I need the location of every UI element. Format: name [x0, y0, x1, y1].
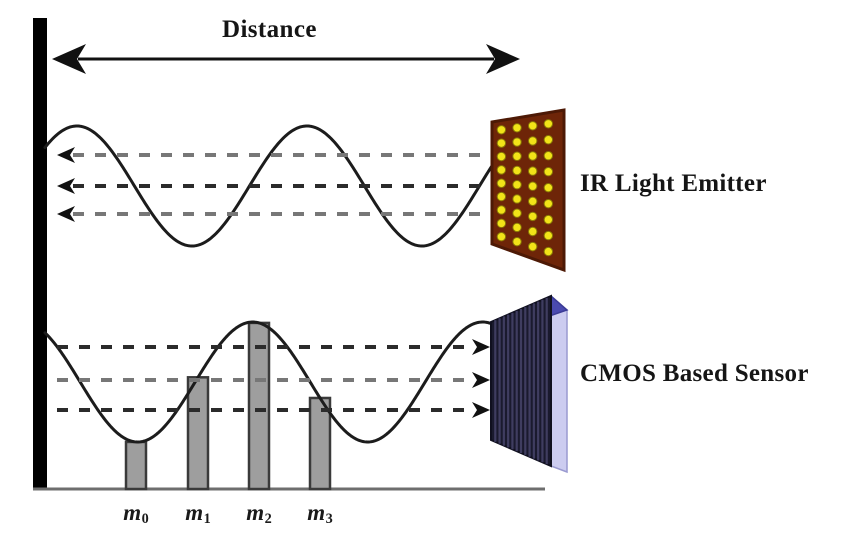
emitted-ray-2 [57, 206, 490, 222]
ir-led-dot [528, 227, 536, 235]
ir-led-dot [497, 206, 505, 214]
sample-label-symbol: m [246, 500, 264, 525]
ray-arrowhead-right [472, 372, 490, 388]
cmos-side-face [551, 300, 567, 472]
sample-label-m1: m1 [185, 500, 211, 528]
received-ray-0 [57, 339, 490, 355]
ir-led-dot [528, 212, 536, 220]
ir-led-dot [513, 181, 521, 189]
ir-led-dot [513, 138, 521, 146]
ir-led-dot [544, 247, 552, 255]
ray-arrowhead-right [472, 402, 490, 418]
ir-led-dot [528, 137, 536, 145]
sample-bar-rect [126, 442, 146, 489]
ir-led-dot [497, 233, 505, 241]
ray-arrowhead-right [472, 339, 490, 355]
sample-label-index: 0 [142, 511, 149, 527]
ir-light-emitter-label: IR Light Emitter [580, 170, 767, 198]
reflecting-wall [33, 18, 47, 490]
distance-label: Distance [222, 16, 317, 44]
sample-label-symbol: m [307, 500, 325, 525]
ray-arrowhead-left [57, 147, 75, 163]
ir-led-dot [513, 209, 521, 217]
sample-label-m2: m2 [246, 500, 272, 528]
emitted-ray-1 [57, 178, 490, 194]
ir-led-dot [497, 179, 505, 187]
ir-led-dot [544, 168, 552, 176]
ir-led-dot [544, 215, 552, 223]
ir-led-dot [513, 124, 521, 132]
ir-led-dot [497, 152, 505, 160]
sample-label-m0: m0 [123, 500, 149, 528]
ir-led-dot [497, 139, 505, 147]
ir-led-dot [513, 166, 521, 174]
ir-led-dot [528, 122, 536, 130]
ir-led-dot [528, 182, 536, 190]
ir-led-dot [544, 231, 552, 239]
diagram-root: Distance IR Light Emitter CMOS Based Sen… [0, 0, 867, 560]
ir-led-dot [544, 152, 552, 160]
received-ray-2 [57, 402, 490, 418]
ir-led-dot [528, 242, 536, 250]
ir-led-dot [544, 199, 552, 207]
cmos-based-sensor-label: CMOS Based Sensor [580, 360, 809, 388]
sample-label-symbol: m [123, 500, 141, 525]
ray-arrowhead-left [57, 206, 75, 222]
sample-label-symbol: m [185, 500, 203, 525]
ir-led-dot [497, 166, 505, 174]
ir-led-dot [497, 219, 505, 227]
ir-led-dot [528, 152, 536, 160]
ir-led-dot [528, 167, 536, 175]
ir-led-dot [497, 192, 505, 200]
ir-led-dot [513, 237, 521, 245]
sample-bar-m1 [188, 377, 208, 489]
ir-led-dot [513, 152, 521, 160]
sample-bar-rect [188, 377, 208, 489]
sample-label-m3: m3 [307, 500, 333, 528]
ir-led-dot [544, 136, 552, 144]
sample-label-index: 3 [326, 511, 333, 527]
diagram-canvas [0, 0, 867, 560]
ir-light-emitter [492, 110, 564, 270]
ir-led-dot [528, 197, 536, 205]
ir-led-dot [513, 223, 521, 231]
sample-bar-m0 [126, 442, 146, 489]
ir-led-dot [544, 120, 552, 128]
ir-led-dot [544, 183, 552, 191]
ir-led-dot [513, 195, 521, 203]
ray-arrowhead-left [57, 178, 75, 194]
cmos-based-sensor [491, 296, 567, 472]
ir-led-dot [497, 126, 505, 134]
sample-label-index: 1 [204, 511, 211, 527]
sample-label-index: 2 [265, 511, 272, 527]
